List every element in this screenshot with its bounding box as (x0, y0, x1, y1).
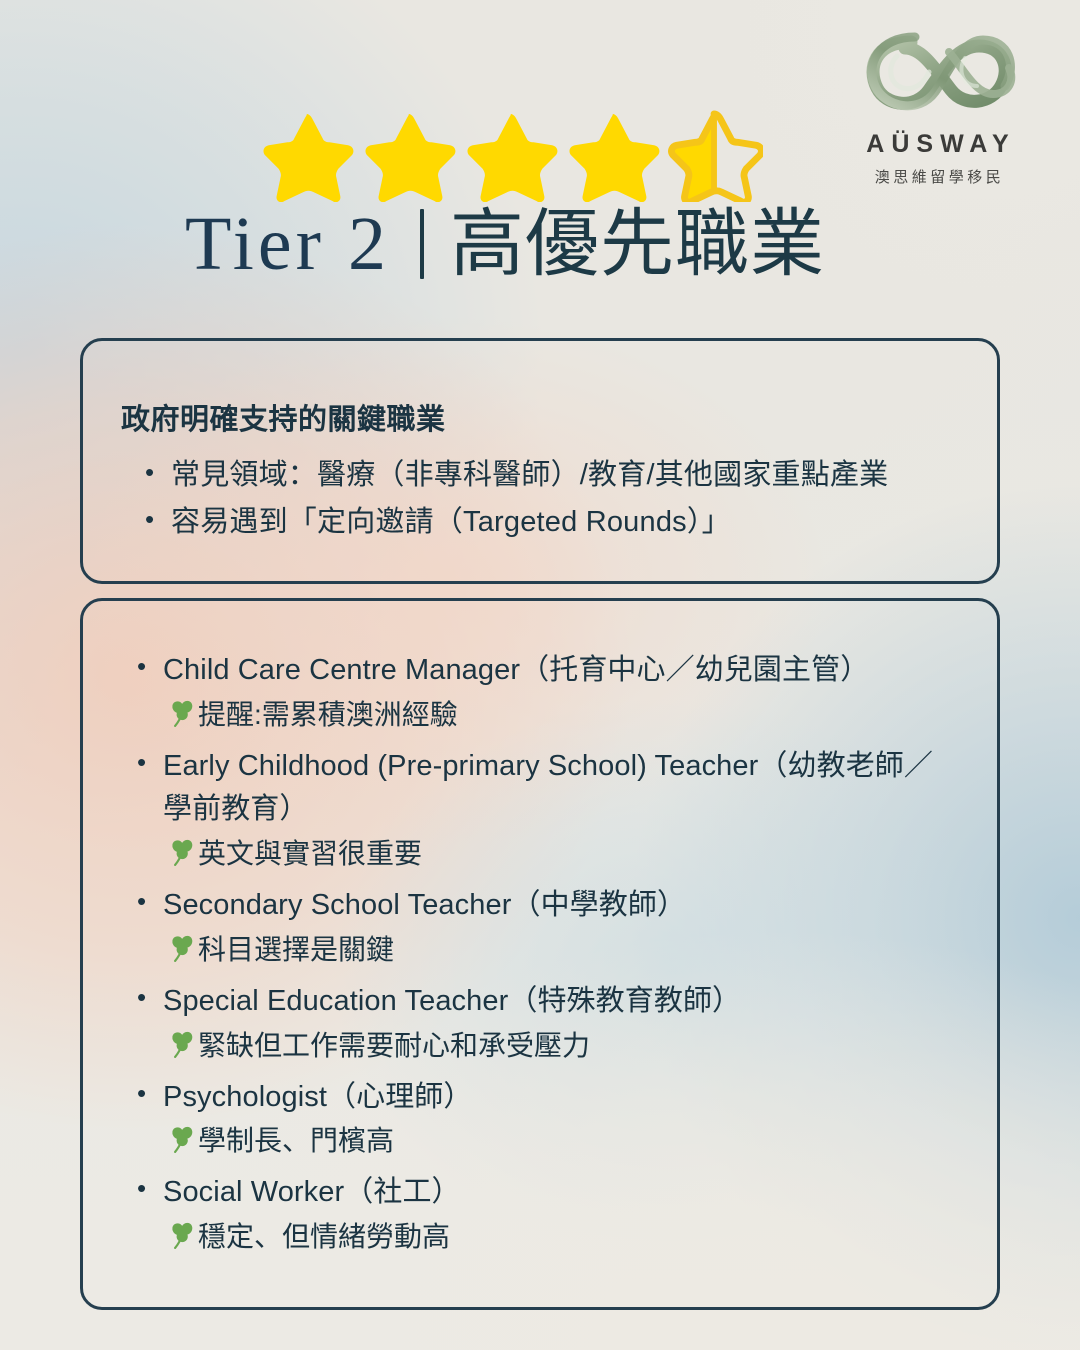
clover-icon (169, 934, 195, 962)
star-icon (359, 108, 457, 202)
clover-icon (169, 699, 195, 727)
list-item: Psychologist（心理師） 學制長、門檳高 (133, 1076, 961, 1163)
clover-icon (169, 1125, 195, 1153)
occupation-note-text: 科目選擇是關鍵 (198, 929, 394, 971)
occupation-note: 學制長、門檳高 (133, 1120, 961, 1162)
occupation-title: Early Childhood (Pre-primary School) Tea… (133, 745, 961, 831)
list-item: Child Care Centre Manager（托育中心／幼兒園主管） 提醒… (133, 649, 961, 736)
occupation-note: 科目選擇是關鍵 (133, 929, 961, 971)
occupation-note: 提醒:需累積澳洲經驗 (133, 694, 961, 736)
list-item: Special Education Teacher（特殊教育教師） 緊缺但工作需… (133, 980, 961, 1067)
list-item: Secondary School Teacher（中學教師） 科目選擇是關鍵 (133, 884, 961, 971)
list-item: 常見領域：醫療（非專科醫師）/教育/其他國家重點產業 (145, 452, 997, 499)
occupation-note-text: 學制長、門檳高 (198, 1120, 394, 1162)
clover-icon (169, 1221, 195, 1249)
star-icon (257, 108, 355, 202)
rating-stars (0, 108, 1080, 202)
clover-icon (169, 1030, 195, 1058)
occupation-note-text: 緊缺但工作需要耐心和承受壓力 (198, 1025, 590, 1067)
occupation-title: Special Education Teacher（特殊教育教師） (133, 980, 961, 1023)
occupation-note-text: 英文與實習很重要 (198, 833, 422, 875)
clover-icon (169, 838, 195, 866)
occupation-note-text: 穩定、但情緒勞動高 (198, 1216, 450, 1258)
occupation-note: 緊缺但工作需要耐心和承受壓力 (133, 1025, 961, 1067)
tier-label: Tier 2 (185, 206, 390, 282)
occupation-title: Secondary School Teacher（中學教師） (133, 884, 961, 927)
occupation-note-text: 提醒:需累積澳洲經驗 (198, 694, 458, 736)
occupation-title: Social Worker（社工） (133, 1171, 961, 1214)
list-item: 容易遇到「定向邀請（Targeted Rounds）」 (145, 499, 997, 546)
star-icon (563, 108, 661, 202)
intro-bullet-list: 常見領域：醫療（非專科醫師）/教育/其他國家重點產業 容易遇到「定向邀請（Tar… (145, 452, 997, 546)
list-item: Social Worker（社工） 穩定、但情緒勞動高 (133, 1171, 961, 1258)
occupation-card: Child Care Centre Manager（托育中心／幼兒園主管） 提醒… (80, 598, 1000, 1310)
occupation-title: Psychologist（心理師） (133, 1076, 961, 1119)
occupation-note: 英文與實習很重要 (133, 833, 961, 875)
star-icon (461, 108, 559, 202)
list-item: Early Childhood (Pre-primary School) Tea… (133, 745, 961, 875)
intro-card: 政府明確支持的關鍵職業 常見領域：醫療（非專科醫師）/教育/其他國家重點產業 容… (80, 338, 1000, 584)
occupation-title: Child Care Centre Manager（托育中心／幼兒園主管） (133, 649, 961, 692)
half-star-icon (665, 108, 763, 202)
title-divider-bar (420, 209, 424, 279)
poster-canvas: AÜSWAY 澳思維留學移民 Tier 2 高優先職業 (0, 0, 1080, 1350)
page-title: Tier 2 高優先職業 (0, 206, 1080, 282)
title-chinese: 高優先職業 (450, 207, 825, 281)
occupation-note: 穩定、但情緒勞動高 (133, 1216, 961, 1258)
intro-card-heading: 政府明確支持的關鍵職業 (121, 396, 997, 438)
occupation-list: Child Care Centre Manager（托育中心／幼兒園主管） 提醒… (133, 649, 961, 1258)
